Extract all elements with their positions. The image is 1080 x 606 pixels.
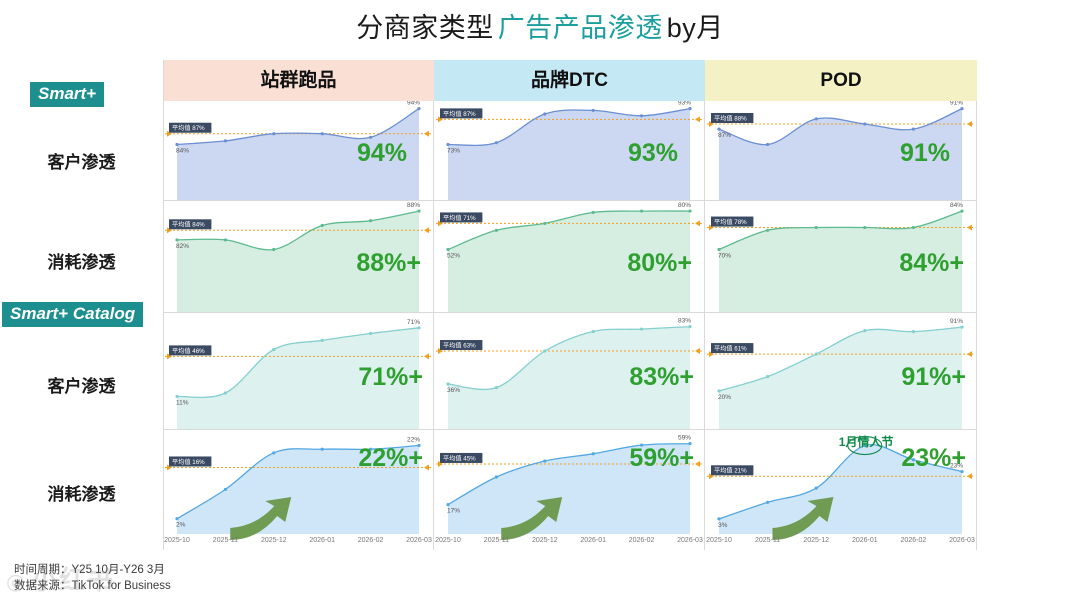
point-value-label: 71% xyxy=(407,319,420,326)
point-value-label: 70% xyxy=(718,253,731,260)
chart-cell[interactable]: 3%23%平均值 21%23%+1月情人节2025-102025-112025-… xyxy=(705,430,976,550)
data-point xyxy=(369,219,372,222)
data-point xyxy=(417,326,420,329)
x-axis-tick: 2026-02 xyxy=(629,537,655,544)
chart-cell[interactable]: 87%91%平均值 88%91% xyxy=(705,101,976,200)
title-right: by月 xyxy=(667,13,724,43)
kpi-value: 88%+ xyxy=(356,249,421,278)
data-point xyxy=(417,209,420,212)
chart-cell[interactable]: 36%83%平均值 63%83%+ xyxy=(434,313,704,429)
data-point xyxy=(766,229,769,232)
chart-cell[interactable]: 2%22%平均值 16%22%+2025-102025-112025-12202… xyxy=(163,430,433,550)
data-point xyxy=(321,339,324,342)
point-value-label: 59% xyxy=(678,435,691,442)
data-point xyxy=(717,248,720,251)
data-point xyxy=(912,226,915,229)
point-value-label: 11% xyxy=(176,399,189,406)
data-point xyxy=(592,330,595,333)
x-axis: 2025-102025-112025-122026-012026-022026-… xyxy=(434,537,704,551)
kpi-value: 93% xyxy=(628,139,678,168)
point-value-label: 94% xyxy=(407,101,420,107)
data-point xyxy=(688,209,691,212)
data-point xyxy=(592,452,595,455)
average-badge-label: 平均值 45% xyxy=(443,454,476,462)
badge-smart-plus: Smart+ xyxy=(30,82,104,107)
x-axis-tick: 2026-03 xyxy=(677,537,703,544)
data-point xyxy=(640,327,643,330)
data-point xyxy=(272,348,275,351)
point-value-label: 73% xyxy=(447,147,460,154)
average-badge-label: 平均值 61% xyxy=(714,344,747,352)
footer-period: 时间周期：Y25 10月-Y26 3月 xyxy=(14,562,171,578)
title-middle: 广告产品渗透 xyxy=(498,13,663,43)
chart-cell[interactable]: 73%93%平均值 87%93% xyxy=(434,101,704,200)
slide-canvas: 分商家类型广告产品渗透by月 Smart+ Smart+ Catalog 客户渗… xyxy=(0,0,1080,606)
data-point xyxy=(543,459,546,462)
average-badge-label: 平均值 78% xyxy=(714,218,747,226)
data-point xyxy=(175,238,178,241)
title-left: 分商家类型 xyxy=(356,13,494,43)
data-point xyxy=(717,517,720,520)
chart-grid: 站群跑品 品牌DTC POD 84%94%平均值 87%94%73%93%平均值… xyxy=(163,60,977,550)
average-marker xyxy=(695,461,700,467)
data-point xyxy=(766,375,769,378)
point-value-label: 83% xyxy=(678,318,691,325)
kpi-value: 91% xyxy=(900,139,950,168)
x-axis-tick: 2026-03 xyxy=(949,537,975,544)
data-point xyxy=(175,517,178,520)
data-point xyxy=(321,224,324,227)
data-point xyxy=(224,488,227,491)
data-point xyxy=(717,389,720,392)
chart-cell[interactable]: 17%59%平均值 45%59%+2025-102025-112025-1220… xyxy=(434,430,704,550)
data-point xyxy=(321,448,324,451)
data-point xyxy=(815,117,818,120)
row-label-2: 消耗渗透 xyxy=(0,248,163,273)
kpi-value: 83%+ xyxy=(629,363,694,392)
x-axis-tick: 2025-12 xyxy=(261,537,287,544)
x-axis-tick: 2026-02 xyxy=(901,537,927,544)
data-point xyxy=(495,475,498,478)
data-point xyxy=(224,238,227,241)
page-title: 分商家类型广告产品渗透by月 xyxy=(0,6,1080,45)
point-value-label: 80% xyxy=(678,202,691,209)
data-point xyxy=(815,487,818,490)
chart-cell[interactable]: 84%94%平均值 87%94% xyxy=(163,101,433,200)
data-point xyxy=(912,128,915,131)
grid-rule-right xyxy=(976,101,977,550)
average-marker xyxy=(695,348,700,354)
kpi-value: 71%+ xyxy=(358,363,423,392)
average-marker xyxy=(424,227,429,233)
x-axis-tick: 2025-10 xyxy=(706,537,732,544)
data-point xyxy=(495,229,498,232)
point-value-label: 52% xyxy=(447,253,460,260)
x-axis-tick: 2025-12 xyxy=(532,537,558,544)
data-point xyxy=(369,332,372,335)
data-point xyxy=(495,141,498,144)
average-badge-label: 平均值 84% xyxy=(172,221,205,229)
data-point xyxy=(543,222,546,225)
chart-cell[interactable]: 11%71%平均值 46%71%+ xyxy=(163,313,433,429)
point-value-label: 93% xyxy=(678,101,691,107)
data-point xyxy=(863,122,866,125)
column-header-3: POD xyxy=(705,60,977,101)
chart-annotation: 1月情人节 xyxy=(839,433,894,450)
column-header-2: 品牌DTC xyxy=(434,60,705,101)
data-point xyxy=(543,349,546,352)
kpi-value: 94% xyxy=(357,139,407,168)
average-marker xyxy=(967,473,972,479)
chart-cell[interactable]: 52%80%平均值 71%80%+ xyxy=(434,201,704,312)
data-point xyxy=(321,132,324,135)
average-marker xyxy=(424,131,429,137)
point-value-label: 82% xyxy=(176,243,189,250)
x-axis-tick: 2026-01 xyxy=(580,537,606,544)
kpi-value: 84%+ xyxy=(899,249,964,278)
average-badge-label: 平均值 87% xyxy=(172,124,205,132)
data-point xyxy=(688,107,691,110)
data-point xyxy=(640,209,643,212)
point-value-label: 84% xyxy=(176,147,189,154)
x-axis-tick: 2025-10 xyxy=(435,537,461,544)
point-value-label: 88% xyxy=(407,202,420,209)
data-point xyxy=(592,211,595,214)
average-badge-label: 平均值 63% xyxy=(443,341,476,349)
average-badge-label: 平均值 21% xyxy=(714,467,747,475)
kpi-value: 23%+ xyxy=(901,444,966,473)
kpi-value: 80%+ xyxy=(627,249,692,278)
point-value-label: 3% xyxy=(718,522,728,529)
point-value-label: 22% xyxy=(407,437,420,444)
average-badge-label: 平均值 16% xyxy=(172,458,205,466)
average-marker xyxy=(424,353,429,359)
data-point xyxy=(863,226,866,229)
chart-cell[interactable]: 70%84%平均值 78%84%+ xyxy=(705,201,976,312)
x-axis-tick: 2026-01 xyxy=(852,537,878,544)
kpi-value: 91%+ xyxy=(901,363,966,392)
data-point xyxy=(272,132,275,135)
x-axis-tick: 2026-03 xyxy=(406,537,432,544)
data-point xyxy=(863,329,866,332)
average-marker xyxy=(695,220,700,226)
x-axis: 2025-102025-112025-122026-012026-022026-… xyxy=(163,537,433,551)
average-badge-label: 平均值 71% xyxy=(443,214,476,222)
point-value-label: 87% xyxy=(718,132,731,139)
data-point xyxy=(960,325,963,328)
data-point xyxy=(688,325,691,328)
x-axis-tick: 2026-01 xyxy=(309,537,335,544)
chart-cell[interactable]: 82%88%平均值 84%88%+ xyxy=(163,201,433,312)
data-point xyxy=(446,248,449,251)
x-axis-tick: 2025-12 xyxy=(803,537,829,544)
average-badge-label: 平均值 46% xyxy=(172,347,205,355)
point-value-label: 36% xyxy=(447,387,460,394)
kpi-value: 22%+ xyxy=(358,444,423,473)
data-point xyxy=(815,352,818,355)
data-point xyxy=(960,209,963,212)
data-point xyxy=(446,503,449,506)
row-label-column: Smart+ Smart+ Catalog 客户渗透 消耗渗透 客户渗透 消耗渗… xyxy=(0,60,163,550)
x-axis-tick: 2025-11 xyxy=(484,537,509,544)
x-axis-tick: 2025-11 xyxy=(213,537,238,544)
average-marker xyxy=(967,351,972,357)
data-point xyxy=(446,143,449,146)
average-marker xyxy=(424,464,429,470)
column-header-1: 站群跑品 xyxy=(163,60,434,101)
data-point xyxy=(175,143,178,146)
data-point xyxy=(272,451,275,454)
point-value-label: 84% xyxy=(950,202,963,209)
data-point xyxy=(912,330,915,333)
data-point xyxy=(543,112,546,115)
average-badge-label: 平均值 88% xyxy=(714,114,747,122)
data-point xyxy=(175,395,178,398)
average-marker xyxy=(967,121,972,127)
row-label-3: 客户渗透 xyxy=(0,372,163,397)
x-axis-tick: 2026-02 xyxy=(358,537,384,544)
x-axis: 2025-102025-112025-122026-012026-022026-… xyxy=(705,537,976,551)
footer-source: 数据来源：TikTok for Business xyxy=(14,578,171,594)
data-point xyxy=(640,114,643,117)
row-label-4: 消耗渗透 xyxy=(0,480,163,505)
data-point xyxy=(592,109,595,112)
data-point xyxy=(766,501,769,504)
point-value-label: 20% xyxy=(718,394,731,401)
data-point xyxy=(495,386,498,389)
data-point xyxy=(224,391,227,394)
point-value-label: 2% xyxy=(176,522,186,529)
data-point xyxy=(766,143,769,146)
badge-smart-plus-catalog: Smart+ Catalog xyxy=(2,302,143,327)
data-point xyxy=(815,226,818,229)
data-point xyxy=(717,128,720,131)
point-value-label: 17% xyxy=(447,508,460,515)
kpi-value: 59%+ xyxy=(629,444,694,473)
row-label-1: 客户渗透 xyxy=(0,148,163,173)
footer: 时间周期：Y25 10月-Y26 3月 数据来源：TikTok for Busi… xyxy=(14,562,171,594)
point-value-label: 91% xyxy=(950,101,963,107)
x-axis-tick: 2025-11 xyxy=(755,537,780,544)
average-marker xyxy=(695,116,700,122)
data-point xyxy=(446,382,449,385)
data-point xyxy=(417,107,420,110)
data-point xyxy=(960,107,963,110)
x-axis-tick: 2025-10 xyxy=(164,537,190,544)
average-badge-label: 平均值 87% xyxy=(443,110,476,118)
data-point xyxy=(272,248,275,251)
chart-cell[interactable]: 20%91%平均值 61%91%+ xyxy=(705,313,976,429)
point-value-label: 91% xyxy=(950,318,963,325)
average-marker xyxy=(967,225,972,231)
data-point xyxy=(224,139,227,142)
